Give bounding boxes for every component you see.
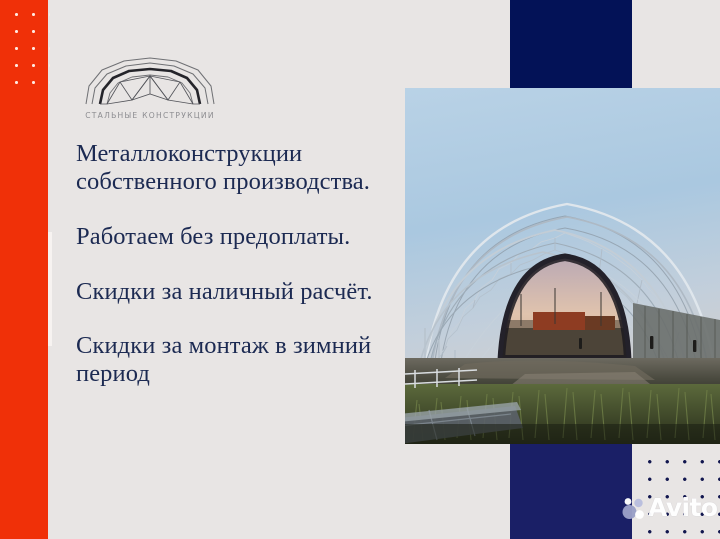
navy-accent-block-top bbox=[510, 0, 632, 89]
avito-dots-icon bbox=[621, 495, 647, 521]
copy-paragraph-1: Металлоконструкции собственного производ… bbox=[76, 140, 416, 195]
logo-caption: СТАЛЬНЫЕ КОНСТРУКЦИИ bbox=[76, 111, 224, 120]
arch-truss-logo-icon bbox=[76, 52, 224, 110]
vertical-accent-line bbox=[48, 232, 52, 346]
ad-copy-block: Металлоконструкции собственного производ… bbox=[76, 140, 416, 387]
avito-watermark: Avito bbox=[621, 495, 717, 521]
company-logo: СТАЛЬНЫЕ КОНСТРУКЦИИ bbox=[76, 52, 224, 130]
ad-banner-canvas: СТАЛЬНЫЕ КОНСТРУКЦИИ Металлоконструкции … bbox=[0, 0, 720, 539]
photo-artwork bbox=[405, 88, 720, 444]
copy-paragraph-4: Скидки за монтаж в зимний период bbox=[76, 332, 416, 387]
avito-wordmark: Avito bbox=[648, 495, 717, 521]
arched-steel-truss-hangar-photo bbox=[405, 88, 720, 444]
copy-paragraph-2: Работаем без предоплаты. bbox=[76, 223, 416, 251]
dot-grid-pattern-top-left bbox=[6, 4, 50, 96]
copy-paragraph-3: Скидки за наличный расчёт. bbox=[76, 278, 416, 306]
navy-accent-block-bottom bbox=[510, 444, 632, 539]
